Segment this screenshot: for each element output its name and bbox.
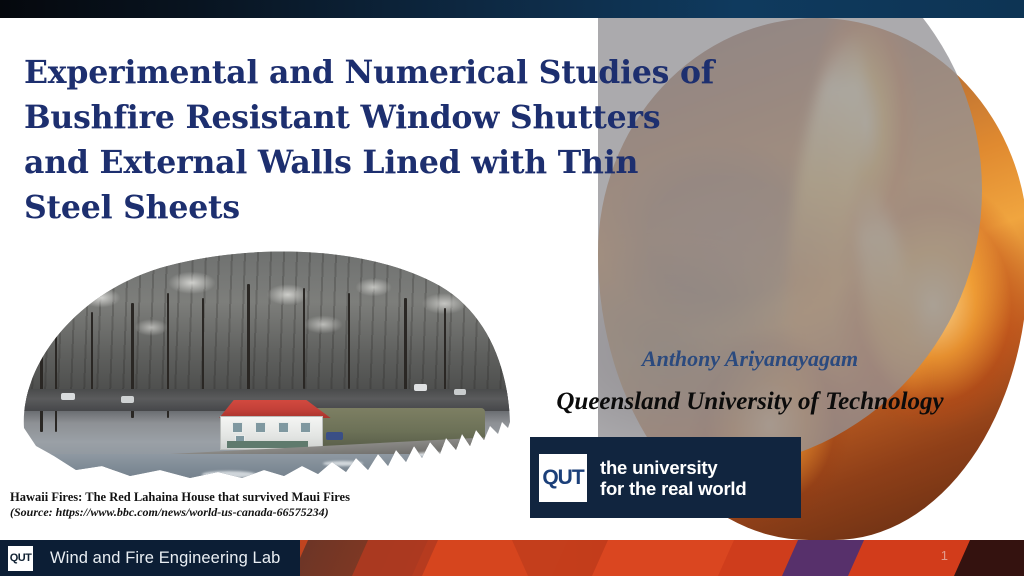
affiliation-name: Queensland University of Technology [495,388,1005,416]
burnt-neighbourhood [10,250,515,399]
qut-tagline-line1: the university [600,457,746,478]
house-window [255,422,266,433]
vehicle [61,393,75,400]
qut-tagline-line2: for the real world [600,478,746,499]
charred-tree [247,284,250,394]
vehicle [454,389,466,395]
qut-tagline: the university for the real world [600,457,746,499]
photo-caption: Hawaii Fires: The Red Lahaina House that… [10,490,490,520]
ocean [10,454,515,490]
qut-footer-mark: QUT [8,546,33,571]
slide-title: Experimental and Numerical Studies of Bu… [24,50,724,230]
qut-footer-mark-text: QUT [10,552,31,564]
author-name: Anthony Ariyanayagam [500,346,1000,372]
page-number: 1 [941,548,948,563]
wave-foam [202,471,256,478]
wave-foam [414,452,448,457]
house-window [278,422,289,433]
caption-source: (Source: https://www.bbc.com/news/world-… [10,505,490,520]
top-accent-bar [0,0,1024,18]
wave-foam [323,461,363,466]
qut-mark-text: QUT [542,466,583,490]
house-window [300,422,311,433]
hawaii-fire-photo [10,250,515,490]
qut-mark: QUT [539,454,587,502]
vehicle [121,396,134,403]
charred-tree [404,298,407,394]
caption-text: Hawaii Fires: The Red Lahaina House that… [10,490,490,505]
slide-footer: QUT Wind and Fire Engineering Lab 1 [0,540,1024,576]
vehicle [414,384,427,391]
charred-tree [40,322,43,432]
blue-car [326,432,343,440]
qut-logo: QUT the university for the real world [530,437,801,518]
presentation-slide: Experimental and Numerical Studies of Bu… [0,0,1024,576]
footer-lab-bar: QUT Wind and Fire Engineering Lab [0,540,300,576]
house-window [232,422,243,433]
footer-lab-name: Wind and Fire Engineering Lab [50,549,280,568]
charred-tree [444,308,446,394]
charred-tree [303,288,305,389]
charred-tree [202,298,204,404]
